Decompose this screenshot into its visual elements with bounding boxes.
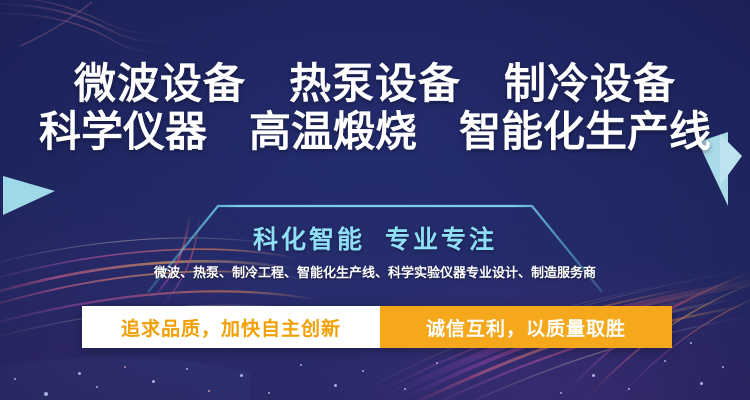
tagline-text: 微波、热泵、制冷工程、智能化生产线、科学实验仪器专业设计、制造服务商 bbox=[140, 262, 610, 281]
slogan-right-box[interactable]: 诚信互利，以质量取胜 bbox=[380, 306, 672, 348]
page-title: 微波设备 热泵设备 制冷设备 科学仪器 高温煅烧 智能化生产线 bbox=[0, 60, 750, 156]
promo-banner: 微波设备 热泵设备 制冷设备 科学仪器 高温煅烧 智能化生产线 科化智能专业专注… bbox=[0, 0, 750, 400]
subheadline-left: 科化智能 bbox=[253, 226, 365, 254]
slogan-bar: 追求品质，加快自主创新 诚信互利，以质量取胜 bbox=[82, 306, 672, 348]
headline-line-2: 科学仪器 高温煅烧 智能化生产线 bbox=[39, 108, 711, 155]
headline-line-1: 微波设备 热泵设备 制冷设备 bbox=[0, 60, 750, 108]
subheadline-right: 专业专注 bbox=[385, 226, 497, 254]
subheadline: 科化智能专业专注 bbox=[140, 220, 610, 256]
trapezoid-frame: 科化智能专业专注 微波、热泵、制冷工程、智能化生产线、科学实验仪器专业设计、制造… bbox=[140, 200, 610, 296]
slogan-left-box[interactable]: 追求品质，加快自主创新 bbox=[82, 306, 380, 348]
triangle-right-icon bbox=[3, 176, 55, 215]
